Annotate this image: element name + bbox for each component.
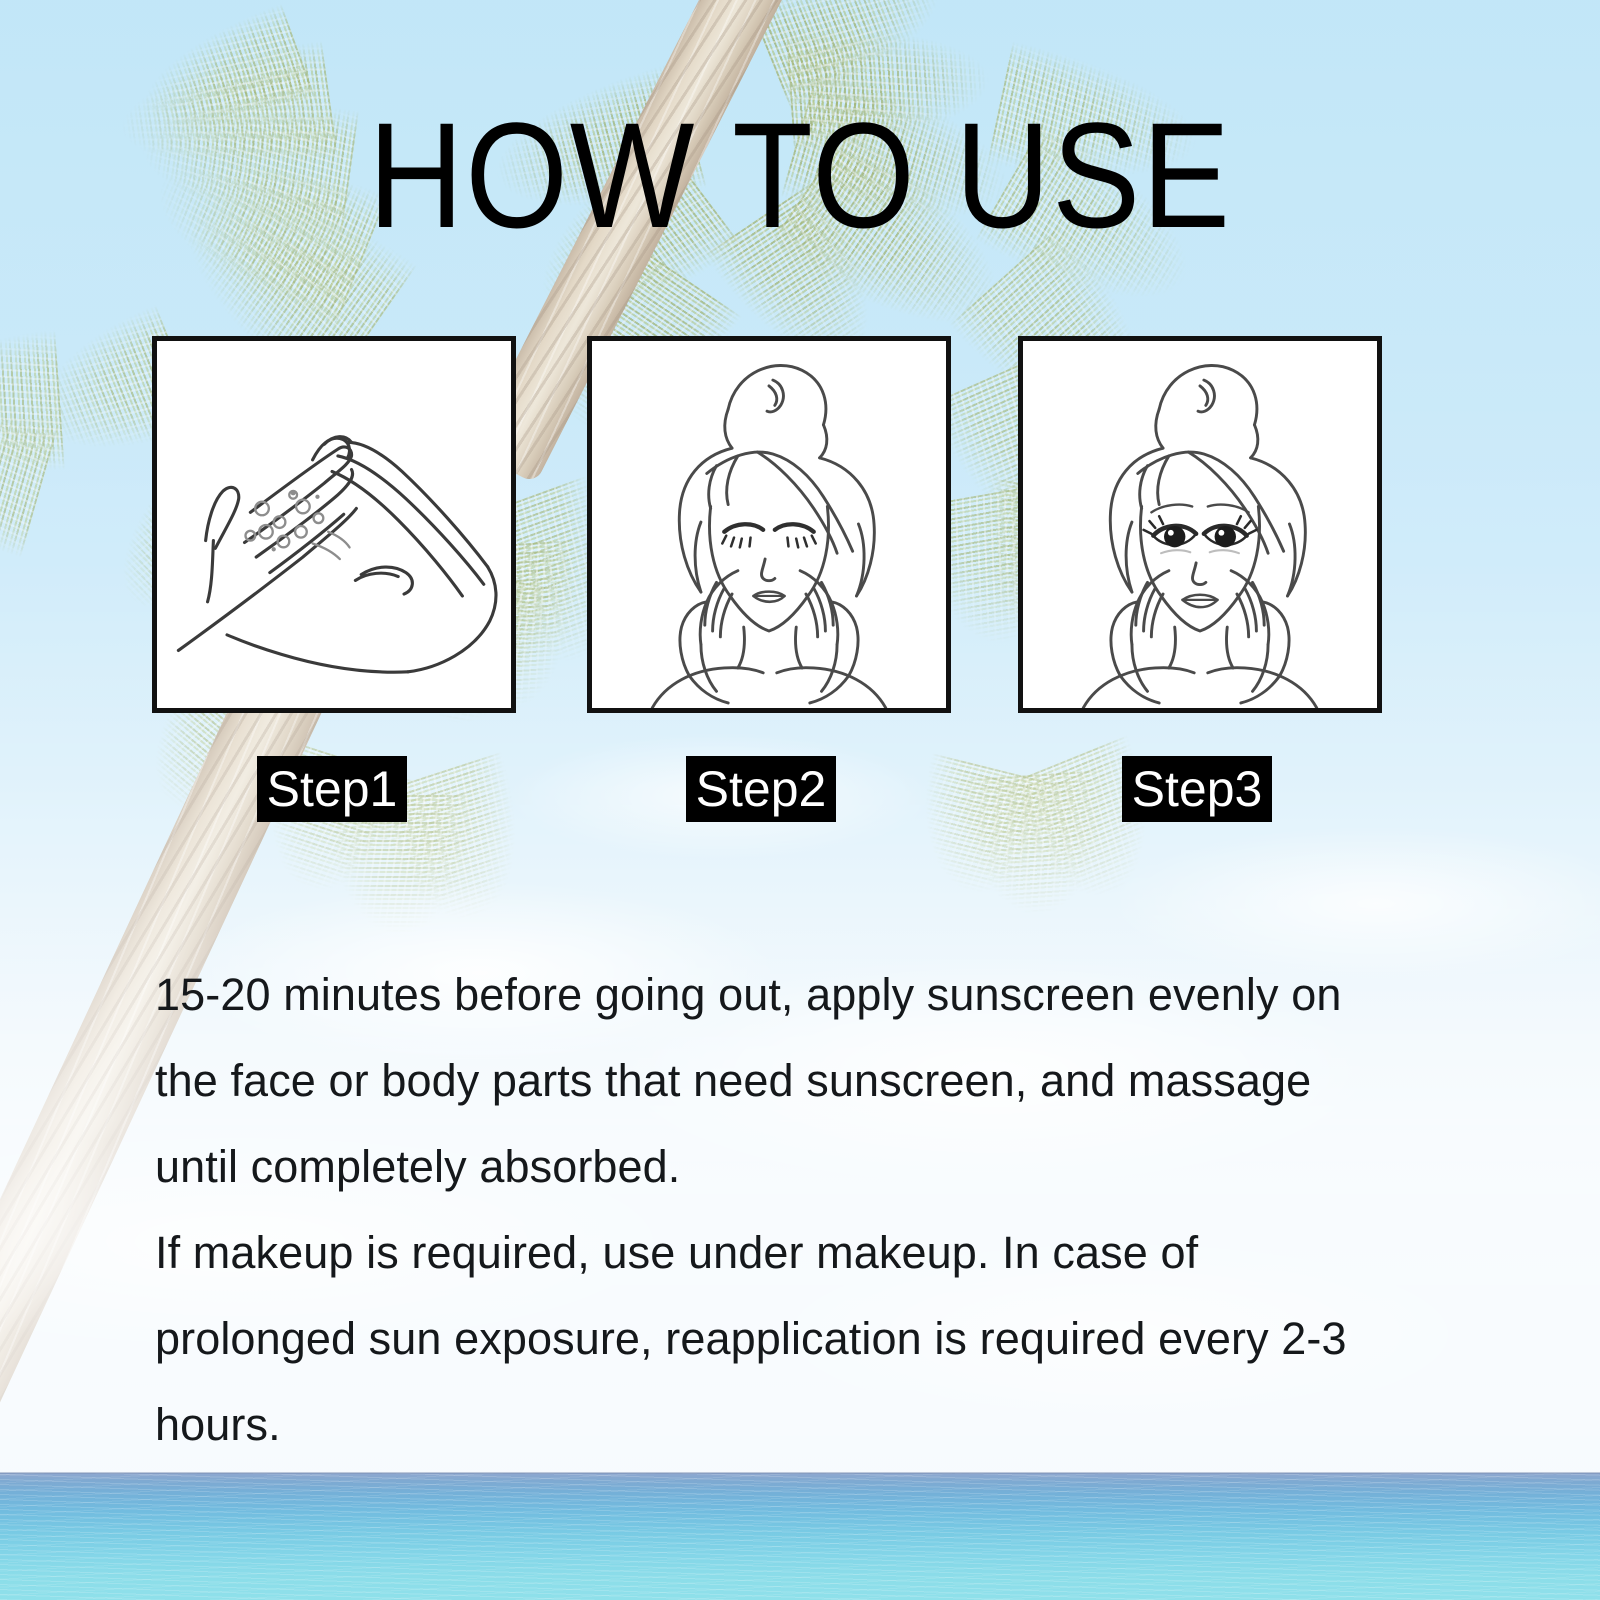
instructions-paragraph-2: If makeup is required, use under makeup.… — [155, 1210, 1400, 1468]
page-title: HOW TO USE — [96, 100, 1504, 250]
step-1-illustration-card — [152, 336, 516, 713]
step-3-illustration-card — [1018, 336, 1382, 713]
step-3-label: Step3 — [1122, 756, 1272, 822]
woman-face-eyes-closed-hands-on-cheeks-icon — [592, 341, 946, 708]
instructions-paragraph-1: 15-20 minutes before going out, apply su… — [155, 952, 1400, 1210]
how-to-use-infographic: HOW TO USE — [0, 0, 1600, 1600]
instructions-block: 15-20 minutes before going out, apply su… — [155, 952, 1400, 1468]
horizon-line — [0, 1472, 1600, 1474]
woman-face-eyes-open-hands-on-cheeks-icon — [1023, 341, 1377, 708]
ocean-background — [0, 1473, 1600, 1600]
two-hands-rubbing-cream-icon — [157, 341, 511, 708]
step-2-label: Step2 — [686, 756, 836, 822]
step-1-label: Step1 — [257, 756, 407, 822]
step-2-illustration-card — [587, 336, 951, 713]
